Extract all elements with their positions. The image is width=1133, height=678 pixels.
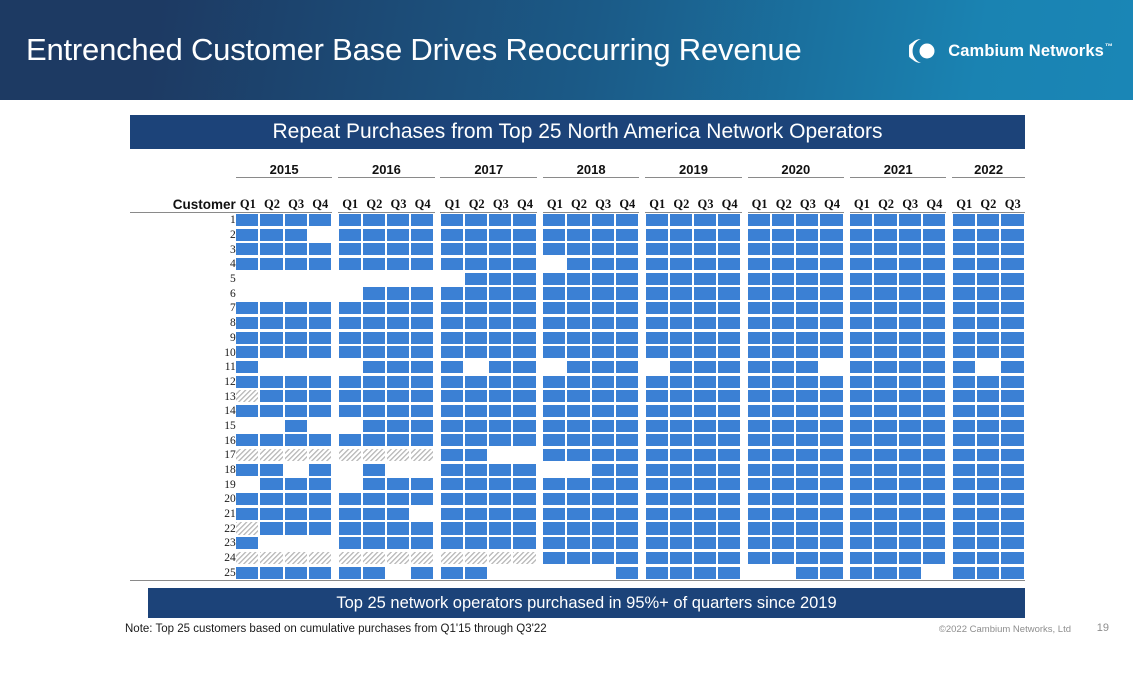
matrix-cell bbox=[850, 301, 874, 316]
chart-title-bar: Repeat Purchases from Top 25 North Ameri… bbox=[130, 115, 1025, 149]
matrix-cell bbox=[308, 389, 332, 404]
year-label-2021: 2021 bbox=[850, 155, 947, 178]
matrix-cell bbox=[796, 389, 820, 404]
matrix-cell bbox=[236, 331, 260, 346]
matrix-cell bbox=[308, 492, 332, 507]
matrix-cell bbox=[820, 301, 844, 316]
matrix-cell bbox=[465, 242, 489, 257]
customer-row-label-22: 22 bbox=[130, 521, 236, 536]
matrix-cell bbox=[567, 345, 591, 360]
matrix-cell bbox=[338, 360, 362, 375]
matrix-cell bbox=[748, 286, 772, 301]
matrix-cell bbox=[411, 213, 435, 228]
matrix-cell bbox=[748, 477, 772, 492]
matrix-cell bbox=[543, 272, 567, 287]
matrix-cell bbox=[513, 404, 537, 419]
matrix-row: 20 bbox=[130, 492, 1025, 507]
matrix-cell bbox=[615, 345, 639, 360]
matrix-row: 6 bbox=[130, 286, 1025, 301]
matrix-cell bbox=[922, 536, 946, 551]
matrix-cell bbox=[772, 360, 796, 375]
matrix-cell bbox=[796, 477, 820, 492]
matrix-cell bbox=[693, 448, 717, 463]
matrix-cell bbox=[669, 419, 693, 434]
matrix-cell bbox=[669, 433, 693, 448]
customer-row-label-6: 6 bbox=[130, 286, 236, 301]
matrix-cell bbox=[440, 257, 464, 272]
matrix-cell bbox=[260, 242, 284, 257]
matrix-cell bbox=[718, 213, 742, 228]
matrix-cell bbox=[748, 419, 772, 434]
matrix-cell bbox=[308, 566, 332, 581]
matrix-row: 22 bbox=[130, 521, 1025, 536]
matrix-cell bbox=[1000, 419, 1025, 434]
matrix-cell bbox=[1000, 213, 1025, 228]
matrix-cell bbox=[898, 448, 922, 463]
matrix-cell bbox=[236, 301, 260, 316]
matrix-cell bbox=[236, 551, 260, 566]
matrix-cell bbox=[260, 331, 284, 346]
matrix-cell bbox=[976, 433, 1000, 448]
matrix-cell bbox=[922, 389, 946, 404]
matrix-cell bbox=[465, 301, 489, 316]
matrix-cell bbox=[693, 301, 717, 316]
matrix-cell bbox=[284, 448, 308, 463]
matrix-cell bbox=[543, 389, 567, 404]
quarter-header-2018-Q3: Q3 bbox=[591, 192, 615, 213]
matrix-cell bbox=[386, 345, 410, 360]
matrix-cell bbox=[591, 419, 615, 434]
matrix-cell bbox=[693, 551, 717, 566]
matrix-cell bbox=[591, 477, 615, 492]
matrix-cell bbox=[591, 286, 615, 301]
matrix-cell bbox=[591, 448, 615, 463]
customer-row-label-9: 9 bbox=[130, 331, 236, 346]
matrix-cell bbox=[543, 566, 567, 581]
matrix-cell bbox=[820, 316, 844, 331]
matrix-cell bbox=[952, 360, 976, 375]
matrix-cell bbox=[260, 389, 284, 404]
matrix-cell bbox=[772, 331, 796, 346]
matrix-cell bbox=[976, 477, 1000, 492]
matrix-cell bbox=[898, 551, 922, 566]
matrix-cell bbox=[386, 477, 410, 492]
matrix-cell bbox=[922, 507, 946, 522]
matrix-cell bbox=[440, 375, 464, 390]
matrix-row: 25 bbox=[130, 566, 1025, 581]
matrix-cell bbox=[338, 345, 362, 360]
matrix-cell bbox=[513, 228, 537, 243]
matrix-cell bbox=[874, 228, 898, 243]
matrix-cell bbox=[465, 286, 489, 301]
matrix-cell bbox=[591, 433, 615, 448]
matrix-cell bbox=[645, 463, 669, 478]
matrix-cell bbox=[362, 419, 386, 434]
matrix-cell bbox=[645, 242, 669, 257]
matrix-cell bbox=[411, 521, 435, 536]
matrix-cell bbox=[411, 419, 435, 434]
matrix-cell bbox=[693, 360, 717, 375]
matrix-cell bbox=[922, 272, 946, 287]
matrix-cell bbox=[362, 404, 386, 419]
brand-name: Cambium Networks™ bbox=[948, 42, 1113, 61]
quarter-header-2016-Q4: Q4 bbox=[411, 192, 435, 213]
matrix-cell bbox=[772, 551, 796, 566]
matrix-cell bbox=[850, 448, 874, 463]
matrix-cell bbox=[489, 331, 513, 346]
matrix-cell bbox=[748, 566, 772, 581]
customer-row-label-5: 5 bbox=[130, 272, 236, 287]
matrix-cell bbox=[284, 286, 308, 301]
matrix-cell bbox=[567, 551, 591, 566]
matrix-cell bbox=[718, 345, 742, 360]
matrix-cell bbox=[260, 433, 284, 448]
matrix-cell bbox=[669, 228, 693, 243]
trademark-symbol: ™ bbox=[1105, 42, 1113, 51]
matrix-cell bbox=[748, 331, 772, 346]
quarter-header-2019-Q2: Q2 bbox=[669, 192, 693, 213]
matrix-cell bbox=[567, 566, 591, 581]
matrix-cell bbox=[820, 286, 844, 301]
matrix-cell bbox=[260, 301, 284, 316]
matrix-cell bbox=[284, 477, 308, 492]
matrix-cell bbox=[874, 360, 898, 375]
matrix-cell bbox=[440, 521, 464, 536]
matrix-cell bbox=[1000, 360, 1025, 375]
quarter-header-2016-Q2: Q2 bbox=[362, 192, 386, 213]
matrix-cell bbox=[411, 477, 435, 492]
matrix-cell bbox=[796, 507, 820, 522]
matrix-cell bbox=[922, 345, 946, 360]
matrix-cell bbox=[386, 360, 410, 375]
matrix-cell bbox=[952, 301, 976, 316]
matrix-cell bbox=[693, 345, 717, 360]
matrix-cell bbox=[693, 228, 717, 243]
matrix-cell bbox=[669, 389, 693, 404]
matrix-cell bbox=[976, 566, 1000, 581]
matrix-cell bbox=[772, 316, 796, 331]
matrix-cell bbox=[1000, 286, 1025, 301]
matrix-cell bbox=[615, 419, 639, 434]
matrix-cell bbox=[260, 521, 284, 536]
page-title: Entrenched Customer Base Drives Reoccurr… bbox=[26, 32, 802, 68]
matrix-cell bbox=[260, 316, 284, 331]
matrix-cell bbox=[898, 331, 922, 346]
matrix-cell bbox=[513, 345, 537, 360]
matrix-cell bbox=[922, 228, 946, 243]
quarter-header-2020-Q3: Q3 bbox=[796, 192, 820, 213]
matrix-cell bbox=[543, 345, 567, 360]
matrix-cell bbox=[236, 463, 260, 478]
matrix-cell bbox=[308, 242, 332, 257]
matrix-cell bbox=[284, 521, 308, 536]
matrix-cell bbox=[236, 257, 260, 272]
matrix-cell bbox=[411, 375, 435, 390]
matrix-cell bbox=[718, 433, 742, 448]
matrix-cell bbox=[820, 433, 844, 448]
matrix-cell bbox=[338, 463, 362, 478]
matrix-cell bbox=[308, 433, 332, 448]
matrix-cell bbox=[308, 507, 332, 522]
matrix-cell bbox=[308, 286, 332, 301]
matrix-cell bbox=[874, 301, 898, 316]
matrix-cell bbox=[772, 242, 796, 257]
quarter-header-2019-Q3: Q3 bbox=[693, 192, 717, 213]
matrix-cell bbox=[1000, 345, 1025, 360]
matrix-cell bbox=[850, 463, 874, 478]
matrix-cell bbox=[284, 345, 308, 360]
matrix-cell bbox=[718, 286, 742, 301]
matrix-cell bbox=[874, 375, 898, 390]
matrix-cell bbox=[411, 463, 435, 478]
matrix-cell bbox=[338, 331, 362, 346]
matrix-cell bbox=[465, 448, 489, 463]
matrix-cell bbox=[308, 301, 332, 316]
matrix-cell bbox=[693, 404, 717, 419]
matrix-cell bbox=[591, 389, 615, 404]
matrix-cell bbox=[362, 566, 386, 581]
matrix-cell bbox=[513, 463, 537, 478]
matrix-cell bbox=[411, 301, 435, 316]
matrix-cell bbox=[411, 433, 435, 448]
matrix-cell bbox=[543, 257, 567, 272]
matrix-cell bbox=[645, 566, 669, 581]
matrix-cell bbox=[465, 433, 489, 448]
matrix-cell bbox=[411, 228, 435, 243]
matrix-cell bbox=[260, 448, 284, 463]
matrix-cell bbox=[260, 272, 284, 287]
matrix-cell bbox=[513, 375, 537, 390]
matrix-cell bbox=[976, 389, 1000, 404]
matrix-cell bbox=[440, 404, 464, 419]
matrix-cell bbox=[284, 419, 308, 434]
matrix-cell bbox=[820, 521, 844, 536]
matrix-cell bbox=[748, 242, 772, 257]
matrix-cell bbox=[465, 463, 489, 478]
customer-row-label-13: 13 bbox=[130, 389, 236, 404]
matrix-cell bbox=[772, 448, 796, 463]
quarter-header-2016-Q1: Q1 bbox=[338, 192, 362, 213]
matrix-cell bbox=[489, 463, 513, 478]
matrix-cell bbox=[772, 272, 796, 287]
matrix-cell bbox=[236, 536, 260, 551]
matrix-cell bbox=[440, 566, 464, 581]
matrix-cell bbox=[820, 463, 844, 478]
matrix-cell bbox=[669, 213, 693, 228]
matrix-cell bbox=[465, 536, 489, 551]
matrix-cell bbox=[874, 463, 898, 478]
matrix-cell bbox=[567, 463, 591, 478]
matrix-cell bbox=[976, 375, 1000, 390]
matrix-cell bbox=[669, 492, 693, 507]
matrix-cell bbox=[260, 257, 284, 272]
matrix-cell bbox=[236, 448, 260, 463]
matrix-cell bbox=[543, 507, 567, 522]
matrix-cell bbox=[922, 448, 946, 463]
matrix-cell bbox=[465, 345, 489, 360]
matrix-cell bbox=[952, 228, 976, 243]
matrix-cell bbox=[922, 286, 946, 301]
matrix-cell bbox=[898, 433, 922, 448]
matrix-cell bbox=[236, 213, 260, 228]
matrix-cell bbox=[796, 228, 820, 243]
matrix-cell bbox=[440, 492, 464, 507]
matrix-cell bbox=[693, 375, 717, 390]
matrix-row: 19 bbox=[130, 477, 1025, 492]
matrix-cell bbox=[718, 551, 742, 566]
customer-row-label-3: 3 bbox=[130, 242, 236, 257]
matrix-cell bbox=[772, 301, 796, 316]
matrix-cell bbox=[236, 360, 260, 375]
matrix-cell bbox=[874, 286, 898, 301]
matrix-cell bbox=[748, 345, 772, 360]
matrix-cell bbox=[952, 551, 976, 566]
matrix-cell bbox=[850, 316, 874, 331]
matrix-cell bbox=[386, 213, 410, 228]
matrix-cell bbox=[850, 331, 874, 346]
matrix-row: 13 bbox=[130, 389, 1025, 404]
matrix-cell bbox=[645, 316, 669, 331]
matrix-cell bbox=[411, 566, 435, 581]
quarter-header-2021-Q4: Q4 bbox=[922, 192, 946, 213]
matrix-cell bbox=[386, 331, 410, 346]
matrix-cell bbox=[922, 316, 946, 331]
matrix-cell bbox=[465, 521, 489, 536]
customer-row-label-17: 17 bbox=[130, 448, 236, 463]
matrix-cell bbox=[850, 272, 874, 287]
matrix-cell bbox=[952, 242, 976, 257]
matrix-cell bbox=[543, 551, 567, 566]
year-label-2016: 2016 bbox=[338, 155, 435, 178]
matrix-cell bbox=[543, 331, 567, 346]
matrix-cell bbox=[850, 389, 874, 404]
matrix-cell bbox=[338, 272, 362, 287]
matrix-cell bbox=[543, 477, 567, 492]
customer-row-label-14: 14 bbox=[130, 404, 236, 419]
quarter-header-2020-Q4: Q4 bbox=[820, 192, 844, 213]
matrix-cell bbox=[615, 242, 639, 257]
customer-row-label-12: 12 bbox=[130, 375, 236, 390]
matrix-cell bbox=[284, 272, 308, 287]
matrix-cell bbox=[1000, 404, 1025, 419]
matrix-cell bbox=[440, 316, 464, 331]
matrix-cell bbox=[874, 316, 898, 331]
matrix-cell bbox=[898, 316, 922, 331]
matrix-cell bbox=[362, 345, 386, 360]
matrix-cell bbox=[362, 242, 386, 257]
matrix-cell bbox=[513, 213, 537, 228]
customer-row-label-19: 19 bbox=[130, 477, 236, 492]
matrix-cell bbox=[615, 566, 639, 581]
matrix-cell bbox=[796, 301, 820, 316]
matrix-cell bbox=[693, 433, 717, 448]
matrix-cell bbox=[615, 477, 639, 492]
matrix-cell bbox=[284, 566, 308, 581]
matrix-cell bbox=[874, 419, 898, 434]
matrix-cell bbox=[513, 551, 537, 566]
matrix-cell bbox=[922, 404, 946, 419]
matrix-cell bbox=[236, 375, 260, 390]
matrix-cell bbox=[874, 345, 898, 360]
matrix-cell bbox=[748, 228, 772, 243]
matrix-cell bbox=[922, 375, 946, 390]
matrix-cell bbox=[693, 492, 717, 507]
matrix-cell bbox=[236, 521, 260, 536]
matrix-cell bbox=[567, 433, 591, 448]
matrix-cell bbox=[874, 213, 898, 228]
matrix-cell bbox=[615, 316, 639, 331]
matrix-cell bbox=[748, 257, 772, 272]
year-label-2019: 2019 bbox=[645, 155, 742, 178]
matrix-cell bbox=[898, 228, 922, 243]
matrix-cell bbox=[260, 345, 284, 360]
matrix-cell bbox=[1000, 331, 1025, 346]
matrix-cell bbox=[543, 492, 567, 507]
matrix-cell bbox=[513, 477, 537, 492]
matrix-cell bbox=[489, 521, 513, 536]
quarter-header-2021-Q3: Q3 bbox=[898, 192, 922, 213]
matrix-cell bbox=[669, 272, 693, 287]
matrix-cell bbox=[850, 521, 874, 536]
matrix-cell bbox=[850, 507, 874, 522]
matrix-cell bbox=[338, 286, 362, 301]
quarter-header-row: CustomerQ1Q2Q3Q4Q1Q2Q3Q4Q1Q2Q3Q4Q1Q2Q3Q4… bbox=[130, 192, 1025, 213]
matrix-cell bbox=[411, 345, 435, 360]
matrix-cell bbox=[718, 507, 742, 522]
customer-row-label-4: 4 bbox=[130, 257, 236, 272]
matrix-cell bbox=[796, 345, 820, 360]
matrix-cell bbox=[952, 448, 976, 463]
matrix-cell bbox=[976, 463, 1000, 478]
matrix-cell bbox=[440, 272, 464, 287]
matrix-cell bbox=[922, 242, 946, 257]
matrix-cell bbox=[952, 257, 976, 272]
matrix-cell bbox=[567, 389, 591, 404]
matrix-cell bbox=[362, 286, 386, 301]
matrix-cell bbox=[820, 477, 844, 492]
matrix-cell bbox=[772, 228, 796, 243]
matrix-cell bbox=[850, 375, 874, 390]
quarter-header-2021-Q2: Q2 bbox=[874, 192, 898, 213]
matrix-cell bbox=[952, 492, 976, 507]
brand-name-text: Cambium Networks bbox=[948, 42, 1104, 60]
matrix-cell bbox=[591, 228, 615, 243]
matrix-cell bbox=[236, 242, 260, 257]
matrix-cell bbox=[386, 566, 410, 581]
matrix-cell bbox=[465, 316, 489, 331]
matrix-cell bbox=[645, 404, 669, 419]
matrix-cell bbox=[718, 492, 742, 507]
customer-row-label-11: 11 bbox=[130, 360, 236, 375]
matrix-cell bbox=[850, 345, 874, 360]
matrix-cell bbox=[669, 551, 693, 566]
matrix-cell bbox=[796, 242, 820, 257]
matrix-cell bbox=[284, 389, 308, 404]
matrix-cell bbox=[976, 536, 1000, 551]
matrix-cell bbox=[386, 272, 410, 287]
matrix-cell bbox=[338, 492, 362, 507]
matrix-cell bbox=[645, 331, 669, 346]
matrix-row: 21 bbox=[130, 507, 1025, 522]
matrix-cell bbox=[748, 213, 772, 228]
matrix-cell bbox=[489, 448, 513, 463]
matrix-cell bbox=[591, 492, 615, 507]
matrix-cell bbox=[260, 375, 284, 390]
matrix-cell bbox=[820, 257, 844, 272]
matrix-cell bbox=[591, 566, 615, 581]
matrix-cell bbox=[718, 419, 742, 434]
matrix-cell bbox=[772, 345, 796, 360]
